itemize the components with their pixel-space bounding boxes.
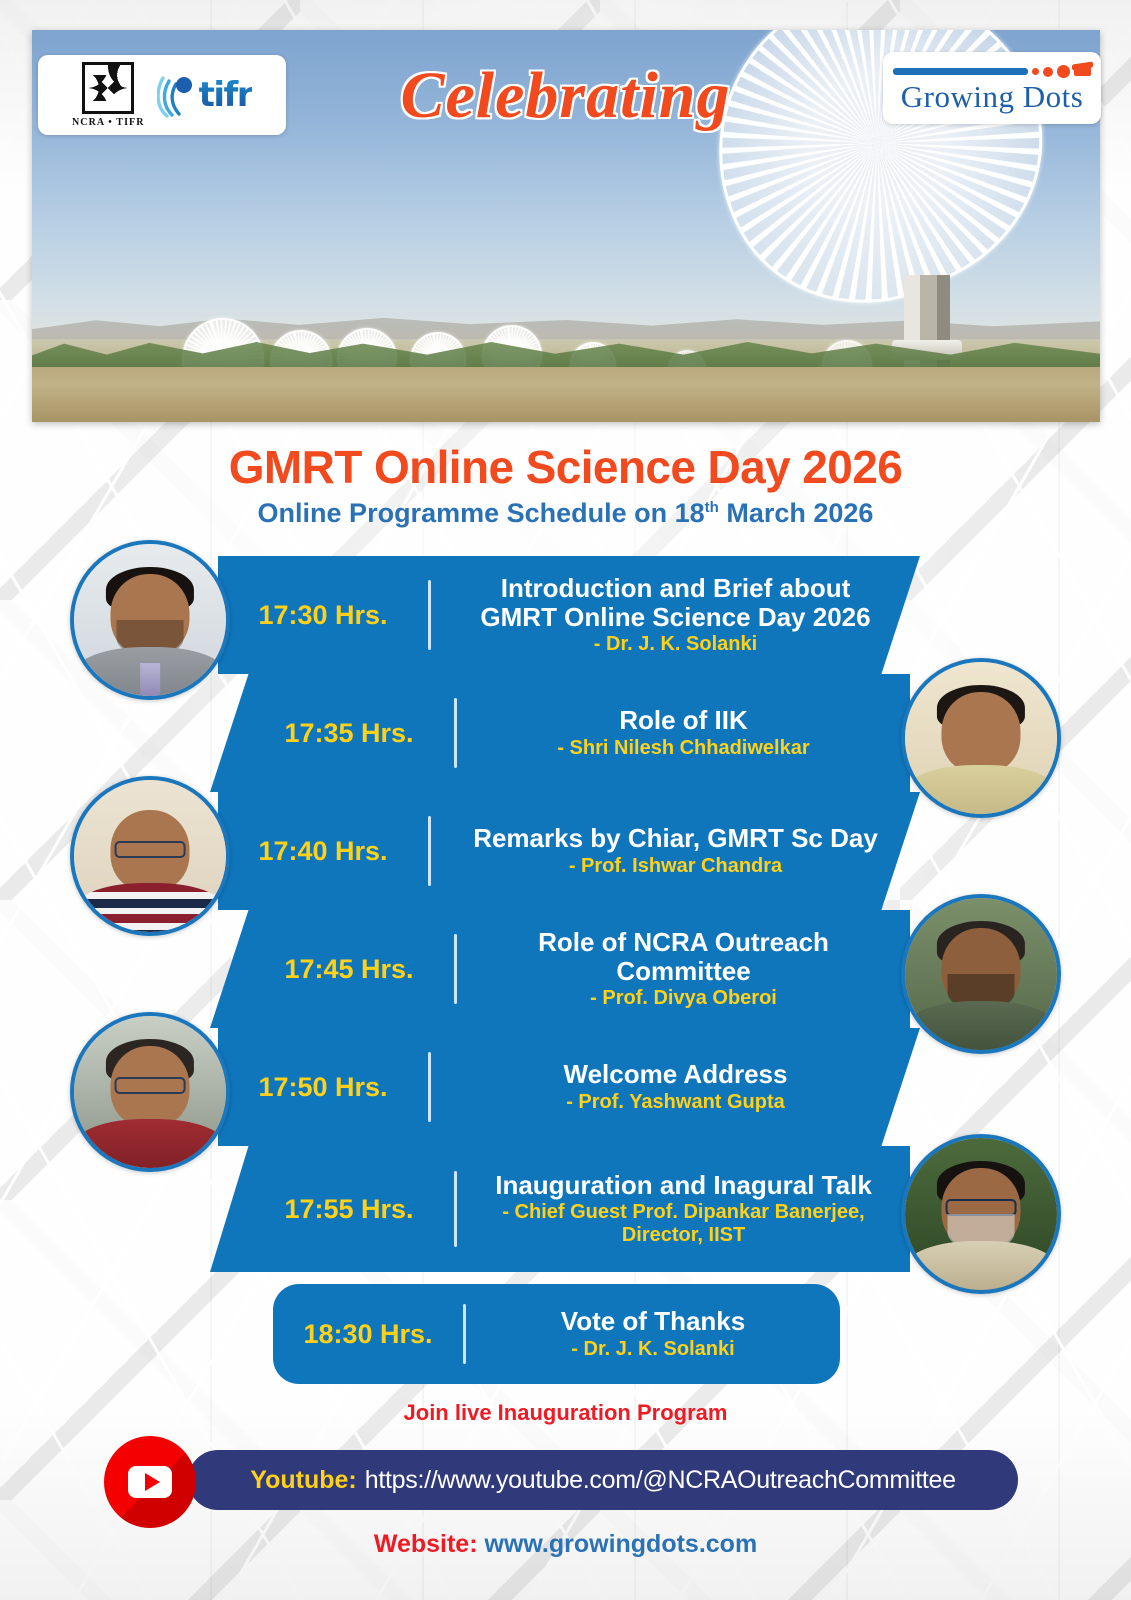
website-url[interactable]: www.growingdots.com [485,1530,758,1558]
schedule-title-line1: Vote of Thanks [480,1307,826,1336]
schedule-speaker: - Dr. J. K. Solanki [445,633,906,656]
schedule-speaker: - Dr. J. K. Solanki [480,1338,826,1361]
speaker-portrait [905,662,1057,814]
schedule-banner[interactable]: 17:55 Hrs. Inauguration and Inagural Tal… [210,1146,910,1272]
schedule-speaker: - Prof. Divya Oberoi [471,987,896,1010]
schedule-time: 17:30 Hrs. [218,600,428,631]
website-line: Website: www.growingdots.com [0,1530,1131,1559]
footer: Join live Inauguration Program Youtube: … [0,1400,1131,1426]
speaker-portrait [905,1138,1057,1290]
schedule-speaker: - Shri Nilesh Chhadiwelkar [471,737,896,760]
schedule-time: 17:55 Hrs. [244,1194,454,1225]
schedule-time: 17:40 Hrs. [218,836,428,867]
schedule-title-line1: Inauguration and Inagural Talk [471,1171,896,1200]
youtube-play-icon[interactable] [104,1436,196,1528]
schedule-title-line1: Introduction and Brief about [445,574,906,603]
speaker-avatar [70,540,230,700]
subtitle-suffix: March 2026 [719,498,874,528]
schedule-speaker: - Chief Guest Prof. Dipankar Banerjee, D… [471,1201,896,1247]
schedule-info: Vote of Thanks - Dr. J. K. Solanki [466,1307,840,1361]
poster-root: Celebrating NCRA • TIFR tifr [0,0,1131,1600]
schedule-row: 17:30 Hrs. Introduction and Brief about … [0,556,1131,674]
schedule-title-line2: GMRT Online Science Day 2026 [445,603,906,632]
ground-field [32,367,1100,422]
schedule-title-line1: Remarks by Chiar, GMRT Sc Day [445,824,906,853]
schedule-time: 17:45 Hrs. [244,954,454,985]
speaker-portrait [905,898,1057,1050]
speaker-avatar [901,894,1061,1054]
youtube-link-bar[interactable]: Youtube: https://www.youtube.com/@NCRAOu… [188,1450,1018,1510]
speaker-portrait [74,544,226,696]
schedule-banner[interactable]: 17:30 Hrs. Introduction and Brief about … [218,556,920,674]
subtitle-prefix: Online Programme Schedule on 18 [258,498,705,528]
schedule-info: Introduction and Brief about GMRT Online… [431,574,920,656]
schedule-time: 17:35 Hrs. [244,718,454,749]
schedule-banner[interactable]: 17:50 Hrs. Welcome Address - Prof. Yashw… [218,1028,920,1146]
programme-schedule-list: 17:30 Hrs. Introduction and Brief about … [0,556,1131,1384]
schedule-speaker: - Prof. Yashwant Gupta [445,1091,906,1114]
schedule-info: Inauguration and Inagural Talk - Chief G… [457,1171,910,1248]
speaker-portrait [74,1016,226,1168]
speaker-avatar [70,1012,230,1172]
schedule-info: Role of NCRA Outreach Committee - Prof. … [457,928,910,1010]
schedule-title-line1: Role of IIK [471,706,896,735]
youtube-icon-plate [128,1466,172,1498]
join-live-text: Join live Inauguration Program [0,1400,1131,1426]
subtitle-superscript: th [705,499,719,516]
play-triangle-icon [145,1473,160,1491]
youtube-url[interactable]: https://www.youtube.com/@NCRAOutreachCom… [365,1466,956,1495]
schedule-banner[interactable]: 17:40 Hrs. Remarks by Chiar, GMRT Sc Day… [218,792,920,910]
page-subtitle: Online Programme Schedule on 18th March … [0,498,1131,529]
website-label: Website: [374,1530,478,1558]
schedule-info: Remarks by Chiar, GMRT Sc Day - Prof. Is… [431,824,920,878]
schedule-row: 18:30 Hrs. Vote of Thanks - Dr. J. K. So… [0,1284,1131,1384]
schedule-speaker: - Prof. Ishwar Chandra [445,855,906,878]
schedule-banner[interactable]: 18:30 Hrs. Vote of Thanks - Dr. J. K. So… [273,1284,840,1384]
schedule-title-line1: Role of NCRA Outreach Committee [471,928,896,985]
schedule-info: Role of IIK - Shri Nilesh Chhadiwelkar [457,706,910,760]
speaker-avatar [901,658,1061,818]
schedule-time: 18:30 Hrs. [273,1319,463,1350]
page-title: GMRT Online Science Day 2026 [0,440,1131,494]
schedule-title-line1: Welcome Address [445,1060,906,1089]
speaker-portrait [74,780,226,932]
schedule-info: Welcome Address - Prof. Yashwant Gupta [431,1060,920,1114]
speaker-avatar [70,776,230,936]
speaker-avatar [901,1134,1061,1294]
schedule-banner[interactable]: 17:35 Hrs. Role of IIK - Shri Nilesh Chh… [210,674,910,792]
youtube-label: Youtube: [250,1466,356,1495]
schedule-time: 17:50 Hrs. [218,1072,428,1103]
celebrating-heading: Celebrating [0,58,1131,134]
schedule-banner[interactable]: 17:45 Hrs. Role of NCRA Outreach Committ… [210,910,910,1028]
